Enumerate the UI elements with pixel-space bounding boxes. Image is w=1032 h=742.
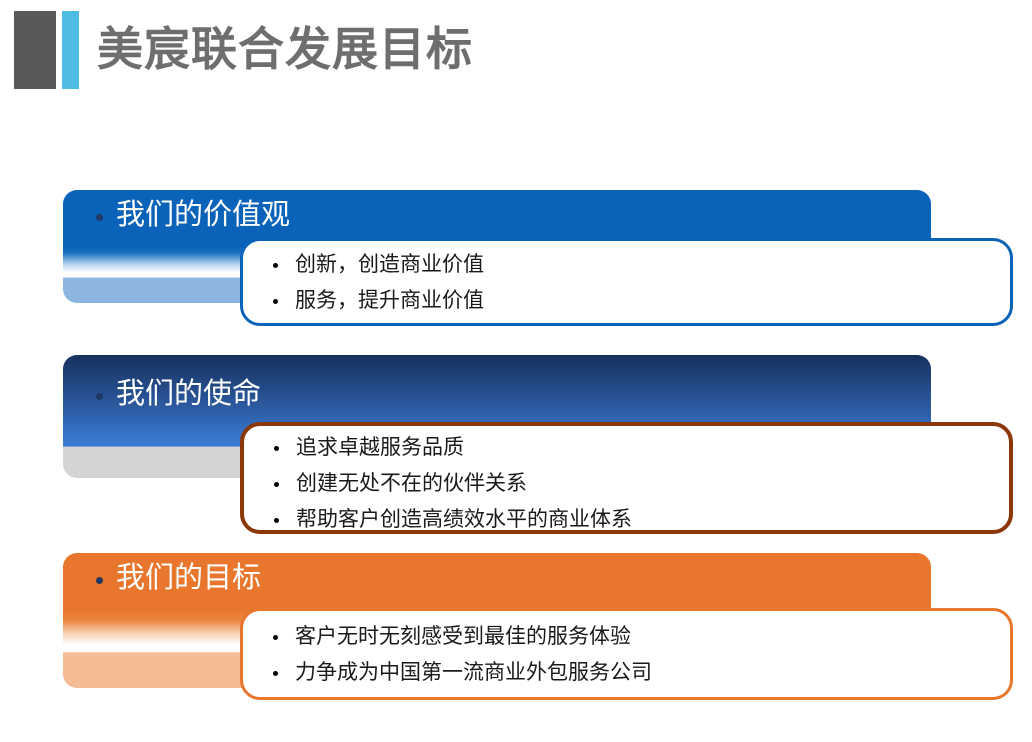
list-item: 创建无处不在的伙伴关系 bbox=[266, 466, 999, 502]
list-item: 追求卓越服务品质 bbox=[266, 430, 999, 466]
goals-content-box: 客户无时无刻感受到最佳的服务体验 力争成为中国第一流商业外包服务公司 bbox=[240, 608, 1013, 700]
list-item: 创新，创造商业价值 bbox=[265, 247, 1000, 283]
values-heading-label: 我们的价值观 bbox=[116, 198, 290, 232]
mission-heading-bullet-icon bbox=[96, 393, 103, 400]
values-heading-bullet-icon bbox=[96, 214, 103, 221]
goals-heading-label: 我们的目标 bbox=[116, 561, 261, 595]
list-item: 客户无时无刻感受到最佳的服务体验 bbox=[265, 619, 1000, 655]
goals-item-list: 客户无时无刻感受到最佳的服务体验 力争成为中国第一流商业外包服务公司 bbox=[265, 619, 1000, 691]
mission-item-list: 追求卓越服务品质 创建无处不在的伙伴关系 帮助客户创造高绩效水平的商业体系 bbox=[266, 430, 999, 538]
values-content-box: 创新，创造商业价值 服务，提升商业价值 bbox=[240, 238, 1013, 326]
list-item: 服务，提升商业价值 bbox=[265, 283, 1000, 319]
mission-heading-label: 我们的使命 bbox=[116, 377, 261, 411]
list-item: 力争成为中国第一流商业外包服务公司 bbox=[265, 655, 1000, 691]
values-item-list: 创新，创造商业价值 服务，提升商业价值 bbox=[265, 247, 1000, 319]
mission-content-box: 追求卓越服务品质 创建无处不在的伙伴关系 帮助客户创造高绩效水平的商业体系 bbox=[240, 422, 1013, 534]
goals-heading-bullet-icon bbox=[96, 577, 103, 584]
list-item: 帮助客户创造高绩效水平的商业体系 bbox=[266, 502, 999, 538]
